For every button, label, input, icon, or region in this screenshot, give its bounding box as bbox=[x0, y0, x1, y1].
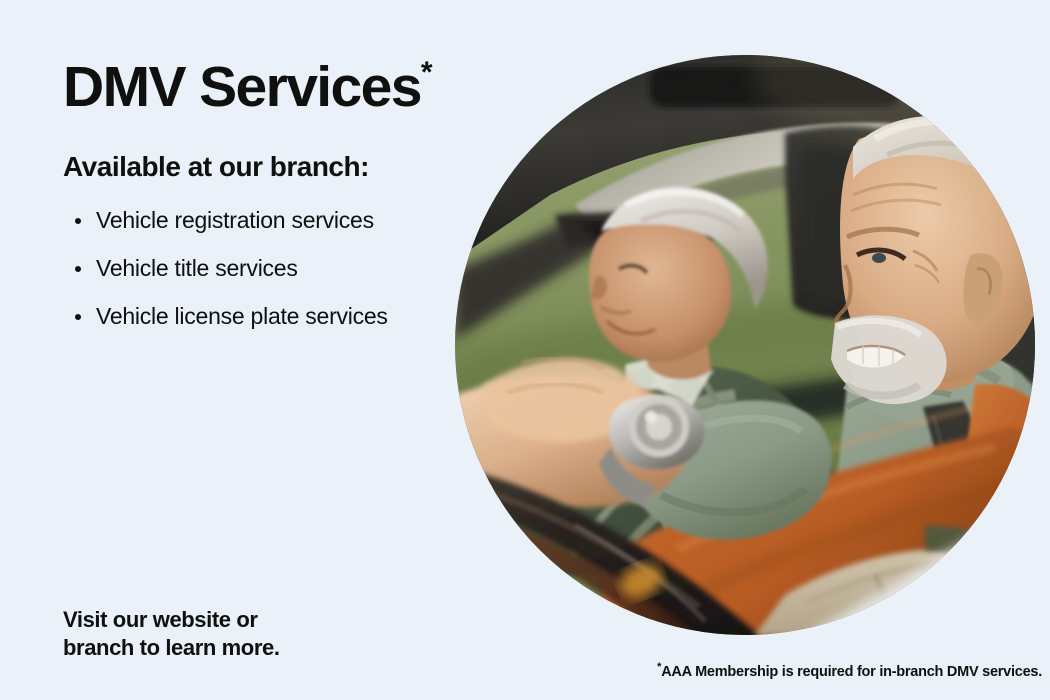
bullet-dot-icon bbox=[75, 314, 81, 320]
cta-line-1: Visit our website or bbox=[63, 606, 280, 634]
list-item: Vehicle title services bbox=[63, 255, 493, 282]
page-title: DMV Services* bbox=[63, 58, 433, 116]
bullet-dot-icon bbox=[75, 266, 81, 272]
title-footnote-marker: * bbox=[421, 56, 433, 89]
photo-circle-panel bbox=[455, 55, 1050, 635]
driving-couple-photo bbox=[455, 55, 1050, 635]
list-item-label: Vehicle title services bbox=[96, 255, 298, 281]
footnote-text: AAA Membership is required for in-branch… bbox=[661, 664, 1042, 680]
list-item: Vehicle registration services bbox=[63, 207, 493, 234]
footnote: *AAA Membership is required for in-branc… bbox=[657, 664, 1042, 680]
call-to-action: Visit our website or branch to learn mor… bbox=[63, 606, 280, 662]
list-item: Vehicle license plate services bbox=[63, 303, 493, 330]
services-list: Vehicle registration services Vehicle ti… bbox=[63, 207, 493, 351]
page-title-text: DMV Services bbox=[63, 55, 421, 119]
cta-line-2: branch to learn more. bbox=[63, 634, 280, 662]
promo-banner: DMV Services* Available at our branch: V… bbox=[0, 0, 1050, 700]
list-item-label: Vehicle license plate services bbox=[96, 303, 388, 329]
list-item-label: Vehicle registration services bbox=[96, 207, 374, 233]
subheading: Available at our branch: bbox=[63, 151, 369, 183]
bullet-dot-icon bbox=[75, 218, 81, 224]
